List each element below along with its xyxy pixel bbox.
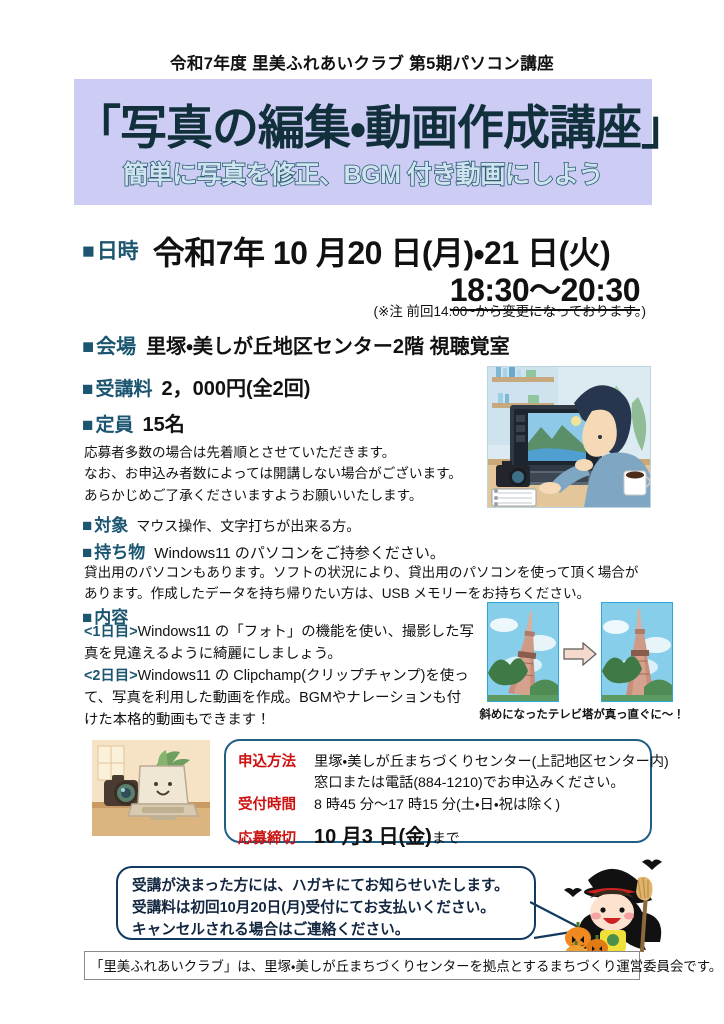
capacity-row: 定員 15名 [82,408,185,437]
capacity-note-line: あらかじめご了承くださいますようお願いいたします。 [84,485,462,506]
notice-speech-bubble: 受講が決まった方には、ハガキにてお知らせいたします。 受講料は初回10月20日(… [116,866,536,940]
application-grid: 申込方法 里塚・美しが丘まちづくりセンター(上記地区センター内) 窓口または電話… [238,750,642,850]
eyebrow-heading: 令和7年度 里美ふれあいクラブ 第5期パソコン講座 [0,50,724,74]
venue-label: 会場 [82,330,136,359]
capacity-value: 15名 [143,408,185,437]
application-info-box: 申込方法 里塚・美しが丘まちづくりセンター(上記地区センター内) 窓口または電話… [224,739,652,843]
application-method-row: 申込方法 里塚・美しが丘まちづくりセンター(上記地区センター内) [238,750,642,771]
content-day2-text: Windows11 の Clipchamp(クリップチャンプ)を使って、写真を利… [84,668,469,728]
content-day1-text: Windows11 の「フォト」の機能を使い、撮影した写真を見違えるように綺麗に… [84,624,474,662]
bat-icon [642,860,662,871]
notice-line: 受講が決まった方には、ハガキにてお知らせいたします。 [132,875,509,897]
content-day2-tag: <2日目> [84,668,138,684]
bat-icon [564,888,582,897]
capacity-note-line: 応募者多数の場合は先着順とさせていただきます。 [84,442,462,463]
footer-note: 「里美ふれあいクラブ」は、里塚・美しが丘まちづくりセンターを拠点とするまちづくり… [84,951,640,980]
capacity-note-line: なお、お申込み者数によっては開講しない場合がございます。 [84,463,462,484]
fee-row: 受講料 2，000円(全2回) [82,372,310,401]
capacity-label: 定員 [82,410,134,437]
target-label: 対象 [82,511,128,536]
application-method-label: 申込方法 [238,750,306,771]
target-row: 対象 マウス操作、文字打ちが出来る方。 [82,511,360,536]
fee-label: 受講料 [82,374,153,401]
application-hours-row: 受付時間 8 時45 分～17 時15 分(土・日・祝は除く) [238,793,642,814]
bring-row: 持ち物 Windows11 のパソコンをご持参ください。 [82,538,445,563]
application-hours-value: 8 時45 分～17 時15 分(土・日・祝は除く) [314,794,560,814]
page-title: 「写真の編集・動画作成講座」 [74,89,652,158]
application-method-row-2: 窓口または電話(884-1210)でお申込みください。 [238,772,642,792]
application-method-line2: 窓口または電話(884-1210)でお申込みください。 [314,772,625,792]
bring-value: Windows11 のパソコンをご持参ください。 [154,542,445,563]
datetime-label: 日時 [82,228,139,265]
title-banner: 「写真の編集・動画作成講座」 簡単に写真を修正、BGM 付き動画にしよう [74,79,652,205]
application-deadline-row: 応募締切 10 月3 日(金)まで [238,820,642,849]
person-editing-photo-illustration [487,366,651,508]
tower-after-image [601,602,673,702]
application-deadline-label: 応募締切 [238,827,306,848]
content-body: <1日目>Windows11 の「フォト」の機能を使い、撮影した写真を見違えるよ… [84,622,474,731]
page-subtitle: 簡単に写真を修正、BGM 付き動画にしよう [74,155,652,191]
capacity-notes: 応募者多数の場合は先着順とさせていただきます。 なお、お申込み者数によっては開講… [84,442,462,506]
application-deadline-value: 10 月3 日(金)まで [314,820,460,849]
fee-value: 2，000円(全2回) [162,372,311,401]
target-value: マウス操作、文字打ちが出来る方。 [136,516,360,536]
deadline-date: 10 月3 日(金) [314,826,432,848]
notice-text: 受講が決まった方には、ハガキにてお知らせいたします。 受講料は初回10月20日(… [132,875,509,942]
deadline-suffix: まで [432,830,460,846]
tower-comparison: 斜めになったテレビ塔が真っ直ぐに～！ [487,602,675,726]
halloween-witch-mascot-illustration [556,856,688,964]
notice-line: キャンセルされる場合はご連絡ください。 [132,919,509,941]
datetime-note: (※注 前回14:00~から変更になっております。) [0,300,646,320]
content-day1: <1日目>Windows11 の「フォト」の機能を使い、撮影した写真を見違えるよ… [84,622,474,666]
content-day2: <2日目>Windows11 の Clipchamp(クリップチャンプ)を使って… [84,666,474,732]
tower-before-image [487,602,559,702]
tower-caption: 斜めになったテレビ塔が真っ直ぐに～！ [477,706,687,722]
bring-notes: 貸出用のパソコンもあります。ソフトの状況により、貸出用のパソコンを使って頂く場合… [84,562,644,604]
content-day1-tag: <1日目> [84,624,138,640]
notice-line: 受講料は初回10月20日(月)受付にてお支払いください。 [132,897,509,919]
venue-value: 里塚・美しが丘地区センター2階 視聴覚室 [146,330,509,359]
application-hours-label: 受付時間 [238,793,306,814]
venue-row: 会場 里塚・美しが丘地区センター2階 視聴覚室 [82,330,510,359]
bring-label: 持ち物 [82,538,145,563]
camera-laptop-illustration [92,740,210,836]
application-method-line1: 里塚・美しが丘まちづくりセンター(上記地区センター内) [314,751,669,771]
arrow-right-icon [563,642,597,666]
